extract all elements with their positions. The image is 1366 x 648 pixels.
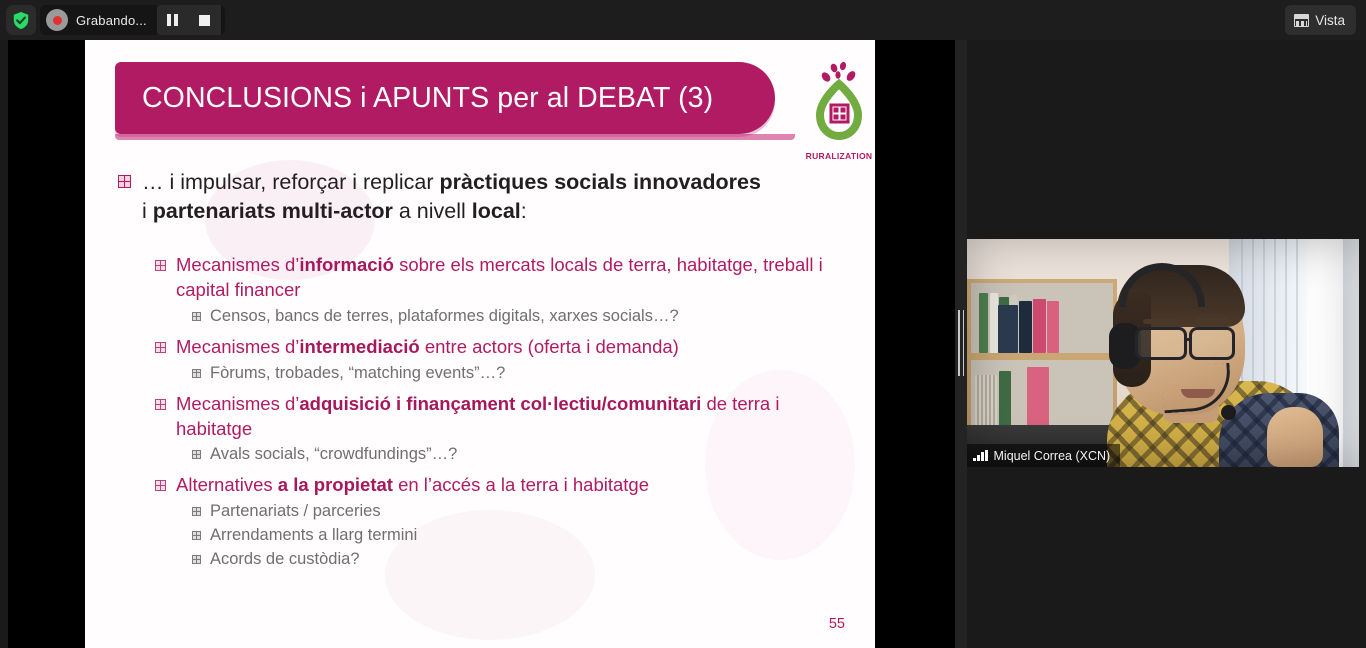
bullet-level3: Acords de custòdia? — [85, 548, 875, 570]
stage-left-edge — [0, 40, 8, 648]
bullet-level1-text: … i impulsar, reforçar i replicar pràcti… — [142, 168, 761, 225]
bullet-marker-icon — [192, 312, 201, 321]
record-dot-icon — [46, 9, 68, 31]
bullet-marker-icon — [155, 480, 166, 491]
bullet-level2: Mecanismes d’intermediació entre actors … — [85, 335, 875, 360]
bullet-level2: Alternatives a la propietat en l’accés a… — [85, 473, 875, 498]
intro-line2-plain-a: i — [142, 199, 153, 223]
bullet-marker-icon — [192, 450, 201, 459]
bullet-level2: Mecanismes d’informació sobre els mercat… — [85, 253, 875, 303]
participant-name: Miquel Correa (XCN) — [994, 449, 1111, 463]
bullet-level3: Fòrums, trobades, “matching events”…? — [85, 362, 875, 384]
intro-line2-bold-b: local — [472, 199, 521, 223]
bullet-marker-icon — [155, 260, 166, 271]
intro-line2-bold-a: partenariats multi-actor — [153, 199, 393, 223]
video-vignette — [967, 239, 1359, 467]
presentation-slide: CONCLUSIONS i APUNTS per al DEBAT (3) RU… — [85, 40, 875, 648]
bullet-post: entre actors (oferta i demanda) — [420, 336, 679, 357]
bullet-level1: … i impulsar, reforçar i replicar pràcti… — [85, 168, 875, 225]
bullet-level3: Avals socials, “crowdfundings”…? — [85, 443, 875, 465]
panel-divider — [955, 40, 967, 648]
bullet-marker-icon — [155, 399, 166, 410]
intro-line2-plain-b: a nivell — [393, 199, 472, 223]
pause-icon — [167, 14, 178, 26]
shield-check-icon[interactable] — [6, 5, 36, 35]
bullet-marker-icon — [118, 175, 131, 188]
shield-check-glyph — [12, 11, 30, 30]
bullet-pre: Mecanismes d’ — [176, 336, 299, 357]
page-title: CONCLUSIONS i APUNTS per al DEBAT (3) — [115, 82, 713, 115]
slide-page-number: 55 — [829, 616, 845, 632]
bullet-emphasis: informació — [299, 254, 394, 275]
recording-toolbar: Grabando... Vista — [0, 0, 1366, 40]
bullet-level2: Mecanismes d’adquisició i finançament co… — [85, 392, 875, 442]
bullet-marker-icon — [155, 342, 166, 353]
recording-label: Grabando... — [76, 13, 147, 28]
slide-body: … i impulsar, reforçar i replicar pràcti… — [85, 168, 875, 573]
intro-line1-plain: … i impulsar, reforçar i replicar — [142, 170, 440, 194]
intro-line1-bold: pràctiques socials innovadores — [440, 170, 761, 194]
bullet-marker-icon — [192, 369, 201, 378]
bullet-level3-text: Acords de custòdia? — [210, 548, 360, 570]
bullet-level3-text: Avals socials, “crowdfundings”…? — [210, 443, 457, 465]
bullet-level3-text: Fòrums, trobades, “matching events”…? — [210, 362, 505, 384]
view-button-label: Vista — [1315, 13, 1345, 28]
participant-name-bar: Miquel Correa (XCN) — [967, 444, 1120, 467]
title-underline — [115, 134, 795, 140]
view-button[interactable]: Vista — [1285, 5, 1356, 35]
participant-video-tile[interactable]: Miquel Correa (XCN) — [967, 239, 1359, 467]
bullet-level3: Arrendaments a llarg termini — [85, 524, 875, 546]
stop-icon — [199, 15, 210, 26]
bullet-emphasis: intermediació — [299, 336, 419, 357]
view-layout-icon — [1294, 14, 1309, 27]
ruralization-logo-mark — [798, 58, 875, 150]
bullet-level3: Censos, bancs de terres, plataformes dig… — [85, 305, 875, 327]
intro-line2-plain-c: : — [521, 199, 527, 223]
bullet-marker-icon — [192, 531, 201, 540]
bullet-level3-text: Censos, bancs de terres, plataformes dig… — [210, 305, 679, 327]
bullet-post: en l’accés a la terra i habitatge — [393, 474, 649, 495]
recording-status-pill: Grabando... — [40, 5, 225, 35]
bullet-emphasis: a la propietat — [278, 474, 393, 495]
bullet-level3: Partenariats / parceries — [85, 500, 875, 522]
shared-screen-stage[interactable]: CONCLUSIONS i APUNTS per al DEBAT (3) RU… — [0, 40, 955, 648]
stop-recording-button[interactable] — [189, 5, 221, 35]
slide-title-banner: CONCLUSIONS i APUNTS per al DEBAT (3) — [115, 62, 775, 134]
bullet-level3-text: Arrendaments a llarg termini — [210, 524, 417, 546]
bullet-pre: Mecanismes d’ — [176, 393, 299, 414]
bullet-marker-icon — [192, 507, 201, 516]
drag-handle-icon[interactable] — [958, 310, 964, 376]
bullet-emphasis: adquisició i finançament col·lectiu/comu… — [299, 393, 701, 414]
bullet-pre: Alternatives — [176, 474, 278, 495]
logo-wordmark: RURALIZATION — [798, 151, 875, 161]
ruralization-logo: RURALIZATION — [798, 58, 875, 163]
bullet-marker-icon — [192, 555, 201, 564]
pause-recording-button[interactable] — [157, 5, 189, 35]
audio-level-bars-icon — [973, 450, 988, 461]
bullet-level3-text: Partenariats / parceries — [210, 500, 381, 522]
bullet-pre: Mecanismes d’ — [176, 254, 299, 275]
